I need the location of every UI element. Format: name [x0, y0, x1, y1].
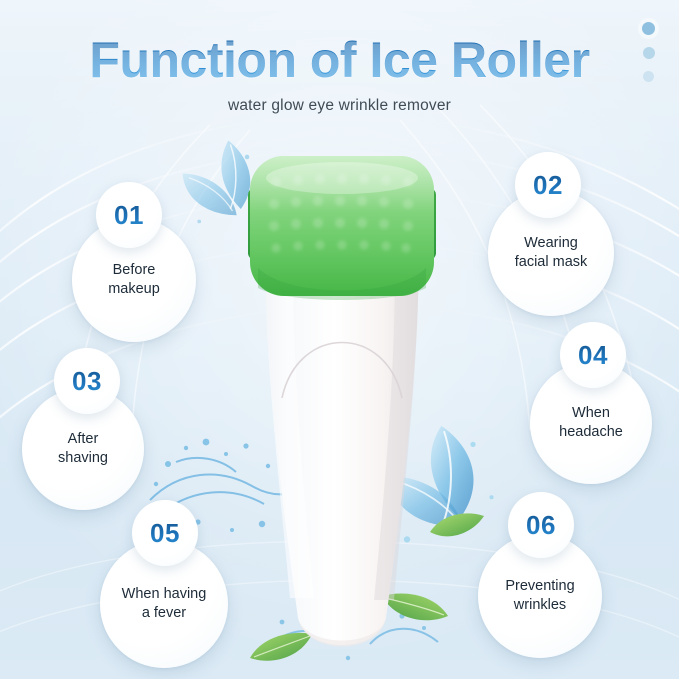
poster-canvas: Function of Ice Roller water glow eye wr…	[0, 0, 679, 679]
callout-number-circle[interactable]: 04	[560, 322, 626, 388]
callout-02[interactable]: Wearing facial mask 02	[482, 148, 652, 316]
page-subtitle: water glow eye wrinkle remover	[0, 97, 679, 115]
callout-number: 03	[72, 366, 102, 397]
callout-04[interactable]: When headache 04	[522, 322, 679, 484]
callout-number-circle[interactable]: 01	[96, 182, 162, 248]
callout-label: Before makeup	[100, 261, 168, 299]
callout-number: 04	[578, 340, 608, 371]
callout-number-circle[interactable]: 05	[132, 500, 198, 566]
callout-number-circle[interactable]: 02	[515, 152, 581, 218]
callout-number-circle[interactable]: 06	[508, 492, 574, 558]
callout-label: When headache	[551, 404, 631, 442]
callout-number-circle[interactable]: 03	[54, 348, 120, 414]
callout-label: Preventing wrinkles	[497, 577, 582, 615]
page-title: Function of Ice Roller	[0, 34, 679, 87]
callout-number: 05	[150, 518, 180, 549]
callout-01[interactable]: Before makeup 01	[58, 182, 218, 342]
callout-number: 01	[114, 200, 144, 231]
callout-number: 06	[526, 510, 556, 541]
callout-05[interactable]: When having a fever 05	[96, 498, 266, 664]
callout-label: When having a fever	[114, 585, 215, 623]
callout-06[interactable]: Preventing wrinkles 06	[472, 492, 638, 656]
header: Function of Ice Roller water glow eye wr…	[0, 34, 679, 115]
callout-03[interactable]: After shaving 03	[12, 348, 172, 510]
callout-label: After shaving	[50, 430, 116, 468]
callout-number: 02	[533, 170, 563, 201]
callout-label: Wearing facial mask	[507, 234, 596, 272]
